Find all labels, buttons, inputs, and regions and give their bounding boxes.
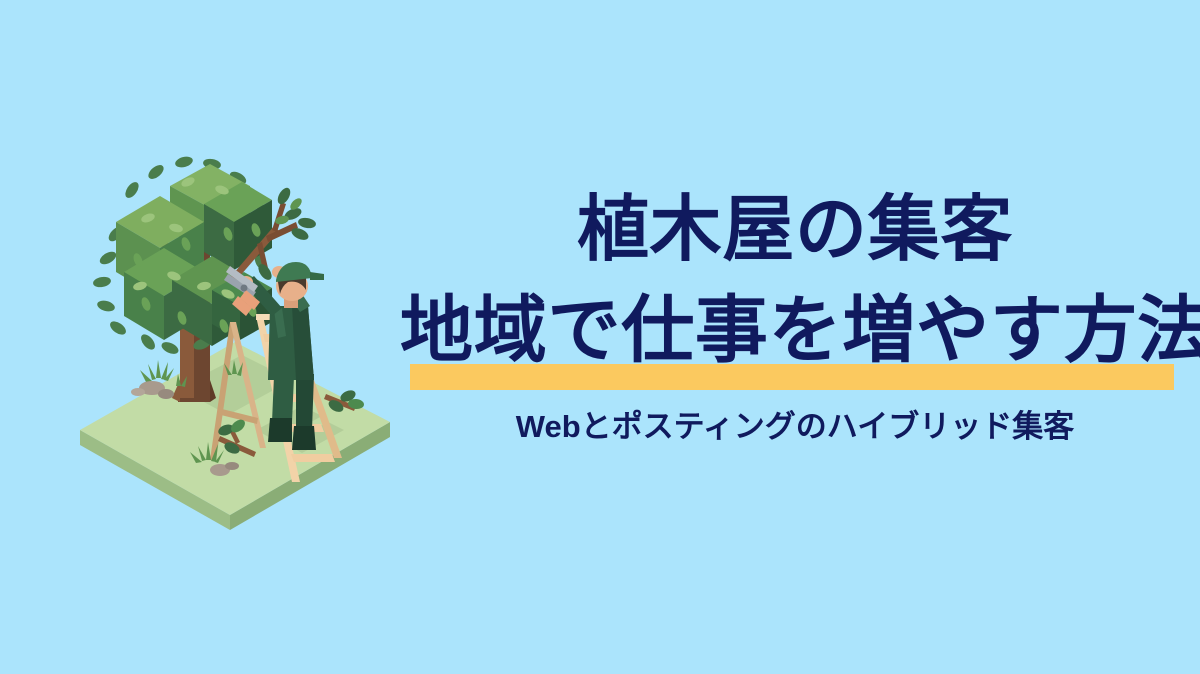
title-line-1: 植木屋の集客 [400,194,1190,266]
gardener-pruning-tree-illustration [60,130,410,530]
headline-text-block: 植木屋の集客 地域で仕事を増やす方法 Webとポスティングのハイブリッド集客 [400,186,1190,466]
subtitle: Webとポスティングのハイブリッド集客 [400,408,1190,445]
tree-foliage [92,155,272,356]
eyecatch-banner: 植木屋の集客 地域で仕事を増やす方法 Webとポスティングのハイブリッド集客 [0,0,1200,674]
title-line-2: 地域で仕事を増やす方法 [400,294,1190,367]
title-line-2-wrapper: 地域で仕事を増やす方法 [400,294,1190,394]
